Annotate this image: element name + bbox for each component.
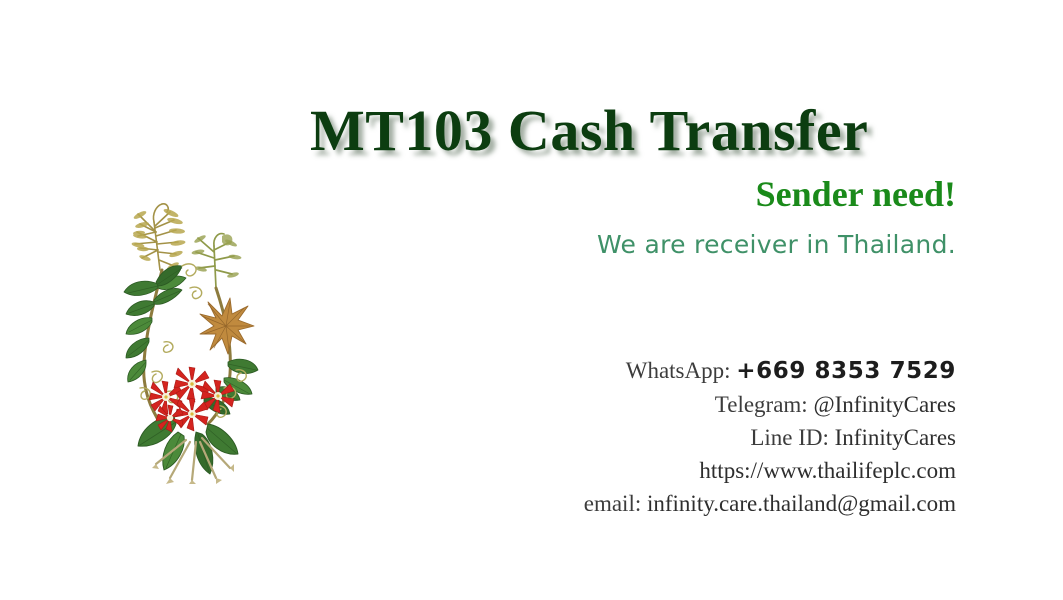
- contact-label-email: email:: [584, 491, 641, 516]
- contact-label-telegram: Telegram:: [715, 392, 808, 417]
- contact-website: https://www.thailifeplc.com: [300, 454, 956, 487]
- contact-email: email: infinity.care.thailand@gmail.com: [300, 487, 956, 520]
- contact-line-id: Line ID: InfinityCares: [300, 421, 956, 454]
- contact-whatsapp: WhatsApp: +669 8353 7529: [300, 354, 956, 388]
- contact-value-website[interactable]: https://www.thailifeplc.com: [699, 458, 956, 483]
- contact-label-line-id: Line ID:: [750, 425, 829, 450]
- flyer-page: MT103 Cash Transfer Sender need! We are …: [0, 0, 1063, 600]
- contact-value-whatsapp[interactable]: +669 8353 7529: [736, 358, 956, 384]
- page-tagline: We are receiver in Thailand.: [300, 228, 956, 262]
- floral-vine-illustration: [104, 192, 260, 484]
- contact-list: WhatsApp: +669 8353 7529 Telegram: @Infi…: [300, 354, 956, 520]
- contact-value-email[interactable]: infinity.care.thailand@gmail.com: [647, 491, 956, 516]
- contact-telegram: Telegram: @InfinityCares: [300, 388, 956, 421]
- page-title: MT103 Cash Transfer: [310, 98, 956, 164]
- text-content: MT103 Cash Transfer Sender need! We are …: [300, 98, 956, 520]
- contact-label-whatsapp: WhatsApp:: [626, 358, 731, 383]
- contact-value-line-id[interactable]: InfinityCares: [835, 425, 956, 450]
- contact-value-telegram[interactable]: @InfinityCares: [813, 392, 956, 417]
- page-subtitle: Sender need!: [300, 172, 956, 216]
